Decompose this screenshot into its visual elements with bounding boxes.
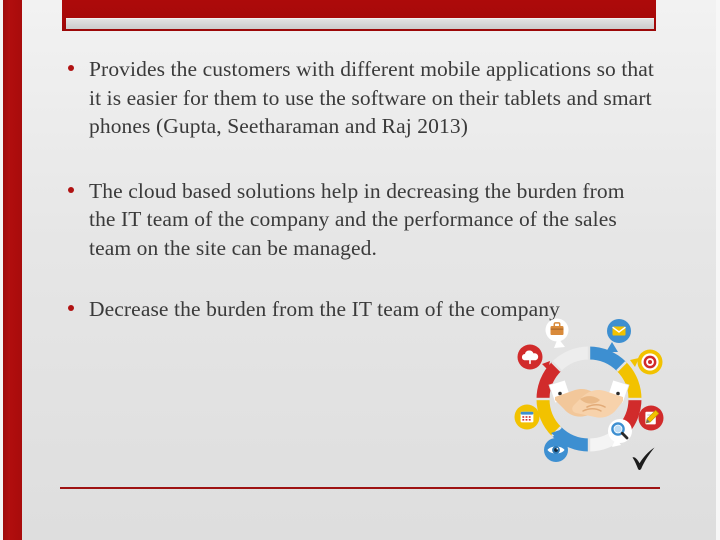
bullet-text: The cloud based solutions help in decrea… bbox=[89, 177, 656, 263]
bullet-text: Provides the customers with different mo… bbox=[89, 55, 656, 141]
cloud-icon bbox=[518, 345, 551, 371]
slide-canvas: Provides the customers with different mo… bbox=[0, 0, 720, 540]
briefcase-icon bbox=[546, 319, 569, 349]
header-inner-strip bbox=[66, 18, 654, 29]
bottom-divider-rule bbox=[60, 487, 660, 489]
handshake-icon bbox=[549, 380, 629, 418]
bullet-dot-icon bbox=[68, 305, 74, 311]
bullet-dot-icon bbox=[68, 65, 74, 71]
bullet-dot-icon bbox=[68, 187, 74, 193]
target-icon bbox=[630, 350, 663, 375]
list-item: The cloud based solutions help in decrea… bbox=[62, 177, 656, 263]
page-edge-right bbox=[716, 0, 720, 540]
left-accent-bar bbox=[3, 0, 22, 540]
check-mark-icon bbox=[630, 446, 658, 472]
envelope-icon bbox=[606, 319, 631, 352]
bullet-list: Provides the customers with different mo… bbox=[62, 55, 656, 324]
list-item: Provides the customers with different mo… bbox=[62, 55, 656, 141]
